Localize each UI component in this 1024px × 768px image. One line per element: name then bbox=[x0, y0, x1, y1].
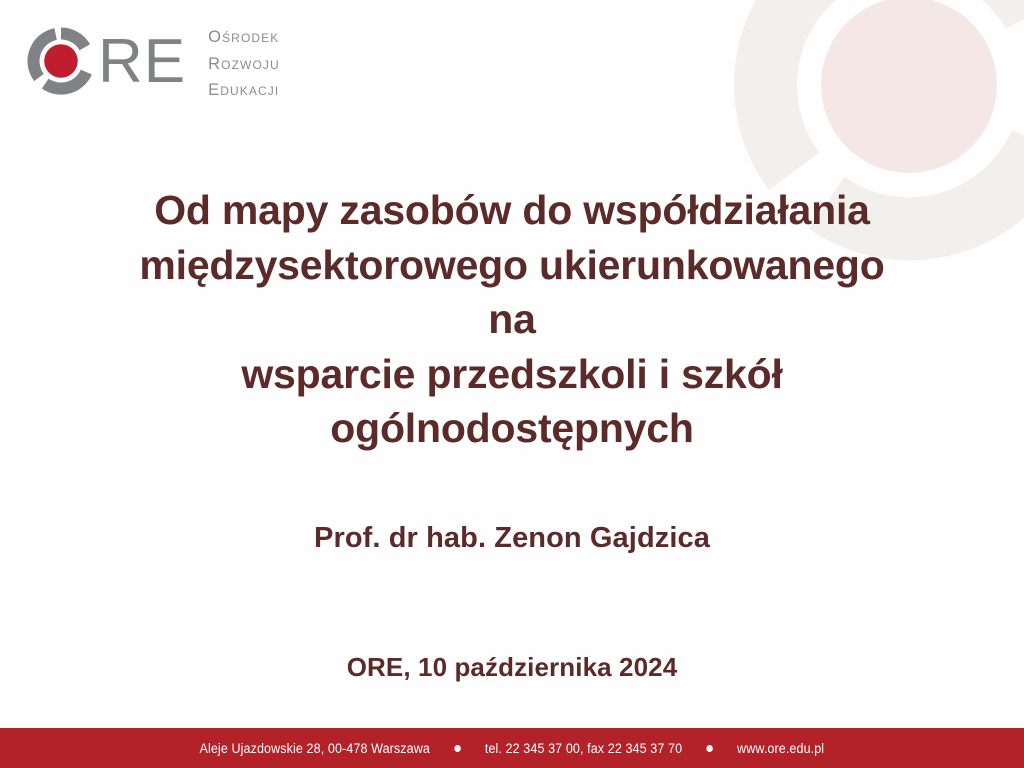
footer-contact-info: Aleje Ujazdowskie 28, 00-478 Warszawa te… bbox=[200, 741, 825, 756]
presenter-name: Prof. dr hab. Zenon Gajdzica bbox=[0, 522, 1024, 555]
ore-ring-icon bbox=[18, 18, 104, 104]
footer-bullet-icon-2 bbox=[707, 745, 714, 752]
footer-bar: Aleje Ujazdowskie 28, 00-478 Warszawa te… bbox=[0, 728, 1024, 768]
title-line-5: ogólnodostępnych bbox=[40, 401, 984, 456]
ore-logo: RE Ośrodek Rozwoju Edukacji bbox=[18, 18, 280, 104]
slide-content: Od mapy zasobów do współdziałania między… bbox=[0, 0, 1024, 728]
title-line-3: na bbox=[40, 292, 984, 347]
ore-tagline-line-3: Edukacji bbox=[208, 77, 280, 104]
ore-wordmark: RE bbox=[98, 31, 186, 93]
ore-tagline: Ośrodek Rozwoju Edukacji bbox=[208, 24, 280, 104]
title-line-4: wsparcie przedszkoli i szkół bbox=[40, 347, 984, 402]
ore-tagline-line-2: Rozwoju bbox=[208, 51, 280, 78]
title-line-1: Od mapy zasobów do współdziałania bbox=[40, 183, 984, 238]
slide-title: Od mapy zasobów do współdziałania między… bbox=[0, 183, 1024, 456]
ore-tagline-line-1: Ośrodek bbox=[208, 24, 280, 51]
presentation-slide: RE Ośrodek Rozwoju Edukacji Od mapy zaso… bbox=[0, 0, 1024, 768]
footer-phone: tel. 22 345 37 00, fax 22 345 37 70 bbox=[485, 741, 682, 756]
footer-address: Aleje Ujazdowskie 28, 00-478 Warszawa bbox=[200, 741, 430, 756]
footer-bullet-icon-1 bbox=[454, 745, 461, 752]
event-date: ORE, 10 października 2024 bbox=[0, 652, 1024, 683]
title-line-2: międzysektorowego ukierunkowanego bbox=[40, 238, 984, 293]
footer-website[interactable]: www.ore.edu.pl bbox=[737, 741, 824, 756]
